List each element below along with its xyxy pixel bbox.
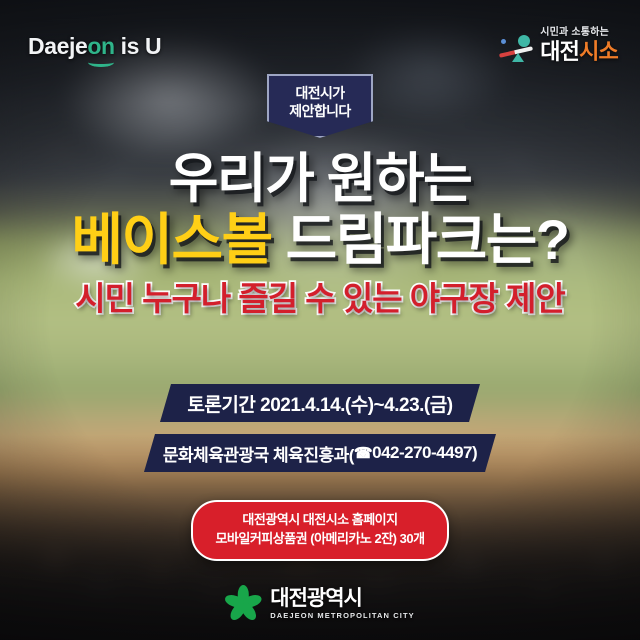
city-logo: 대전광역시 DAEJEON METROPOLITAN CITY [225,586,414,622]
department-contact-banner: 문화체육관광국 체육진흥과(☎042-270-4497) [144,434,496,472]
headline-line-2-baseball: 베이스볼 [72,208,272,271]
wordmark-pre: Daeje [28,33,87,59]
smile-curve-icon [88,58,113,67]
headline-line-2: 베이스볼 드림파크는? [0,211,640,268]
siso-text-block: 시민과 소통하는 대전시소 [540,28,618,63]
phone-icon: ☎ [354,446,372,461]
daejeon-siso-logo: 시민과 소통하는 대전시소 [499,28,618,63]
department-phone-number: 042-270-4497 [372,443,472,463]
city-name-korean: 대전광역시 [270,588,414,610]
siso-name: 대전시소 [540,41,618,63]
wordmark-accent-on: on [87,33,114,60]
department-suffix: ) [472,443,477,463]
headline-subtitle: 시민 누구나 즐길 수 있는 야구장 제안 [0,282,640,316]
daejeon-pinwheel-icon [225,586,261,622]
discussion-period-text: 토론기간 2021.4.14.(수)~4.23.(금) [187,390,452,417]
department-prefix: 문화체육관광국 체육진흥과( [163,441,354,466]
discussion-period-banner: 토론기간 2021.4.14.(수)~4.23.(금) [160,384,480,422]
siso-subtitle: 시민과 소통하는 [540,28,618,38]
seesaw-icon [499,33,533,63]
wordmark-accent-text: on [87,33,114,59]
reward-line-2: 모바일커피상품권 (아메리카노 2잔) 30개 [193,530,447,549]
poster-canvas: Daejeon is U 시민과 소통하는 대전시소 대전시가 제안합니다 우리… [0,0,640,640]
proposal-badge-line1: 대전시가 [269,85,371,103]
seesaw-small-dot-icon [501,39,506,44]
reward-pill: 대전광역시 대전시소 홈페이지 모바일커피상품권 (아메리카노 2잔) 30개 [191,500,449,561]
proposal-badge-line2: 제안합니다 [269,103,371,121]
siso-name-siso: 시소 [579,39,618,64]
reward-line-1: 대전광역시 대전시소 홈페이지 [193,511,447,530]
headline-block: 우리가 원하는 베이스볼 드림파크는? 시민 누구나 즐길 수 있는 야구장 제… [0,152,640,316]
headline-line-2-dreampark: 드림파크는? [272,208,569,271]
seesaw-fulcrum-icon [512,53,524,62]
headline-line-1: 우리가 원하는 [0,152,640,207]
city-name-english: DAEJEON METROPOLITAN CITY [270,612,414,620]
city-name-block: 대전광역시 DAEJEON METROPOLITAN CITY [270,588,414,620]
siso-name-daejeon: 대전 [540,39,579,64]
daejeon-is-u-wordmark: Daejeon is U [28,33,161,60]
wordmark-post: is U [115,33,162,59]
seesaw-large-dot-icon [518,35,530,47]
